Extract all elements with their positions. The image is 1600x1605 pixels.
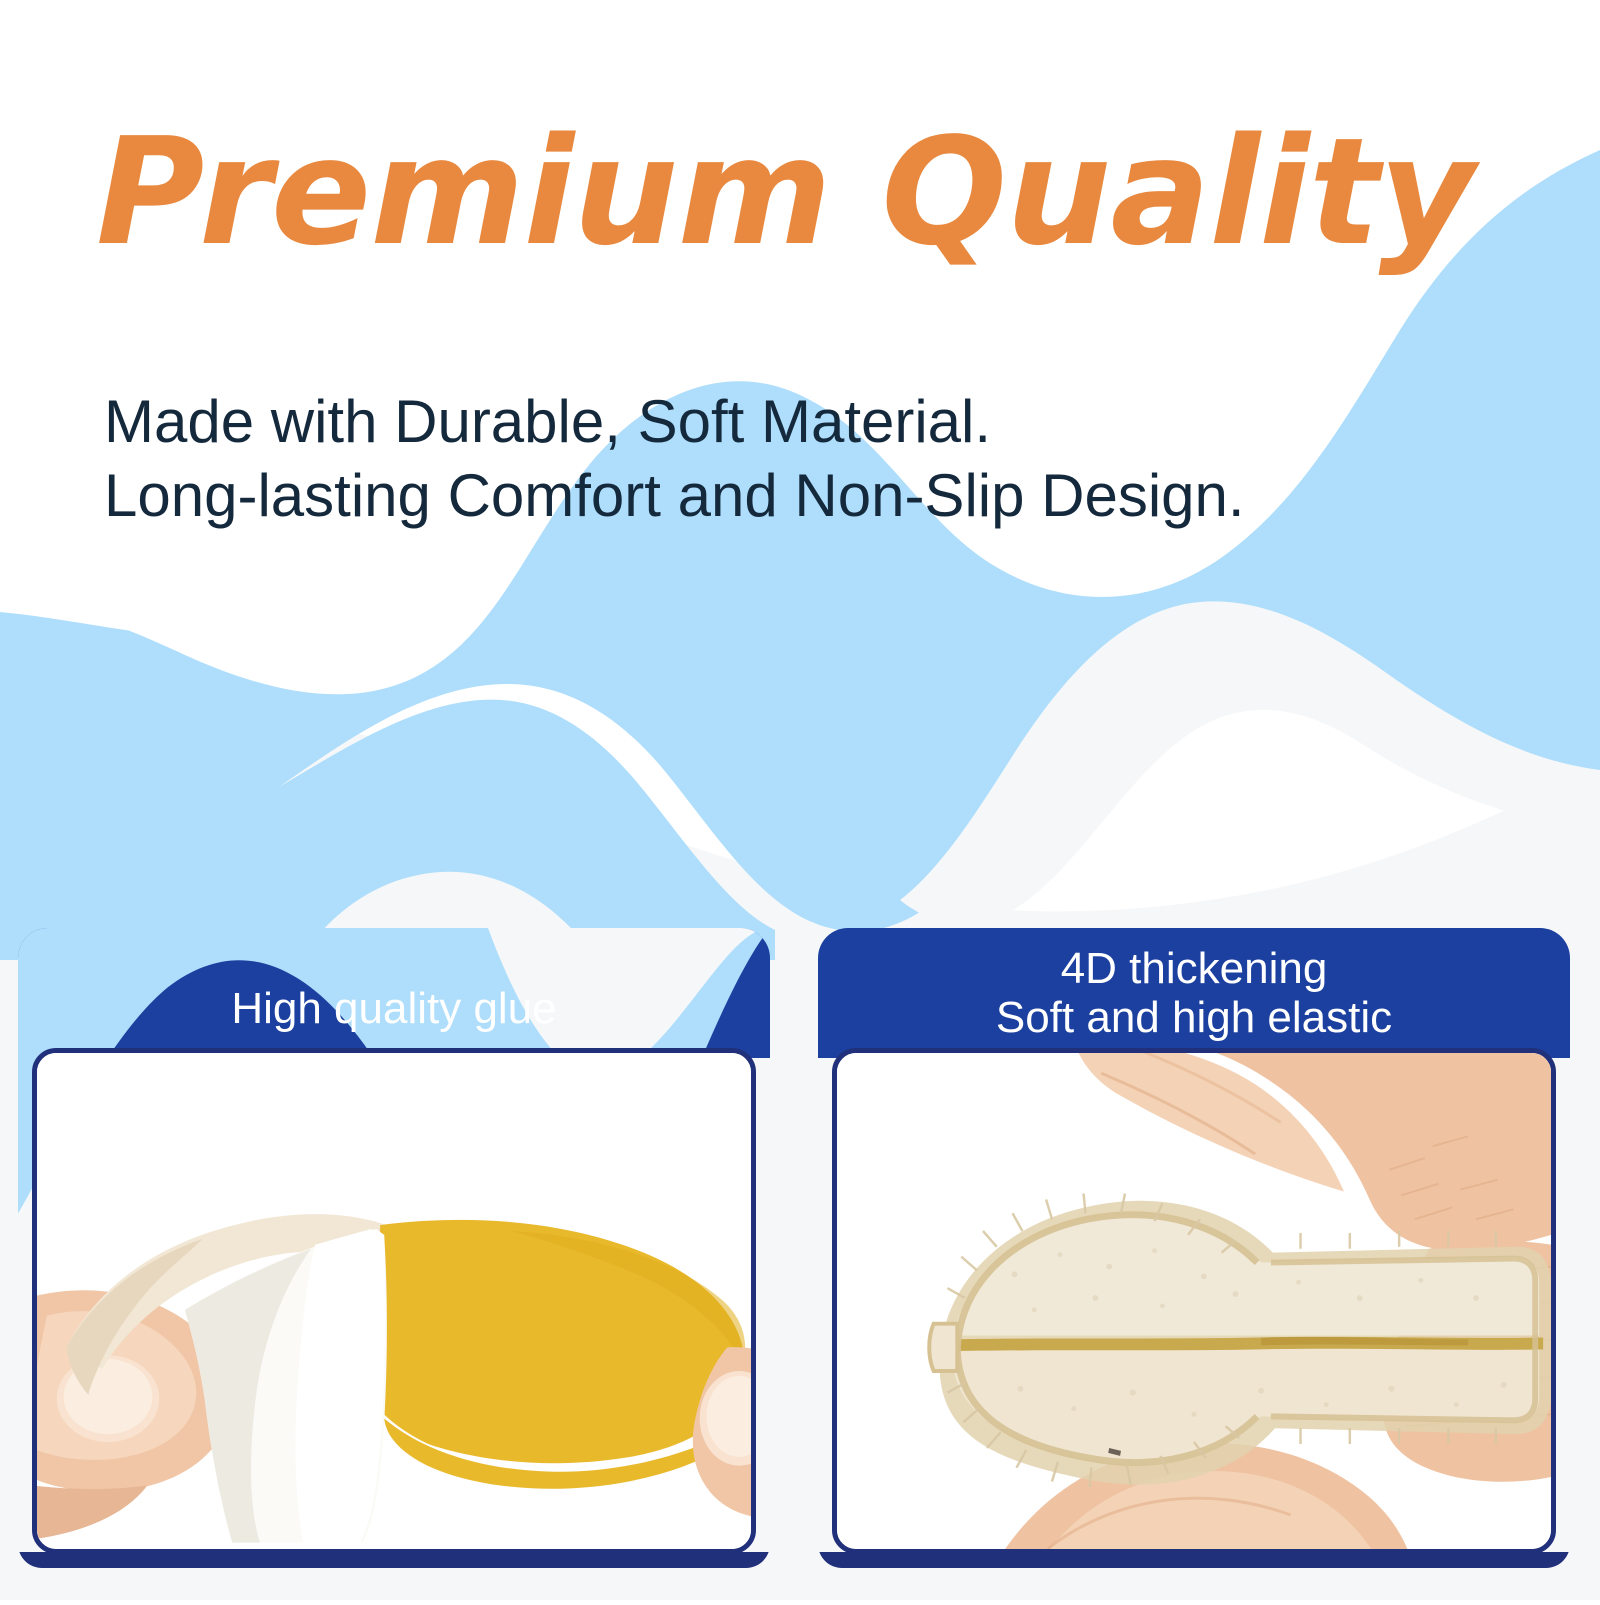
product-photo-foam bbox=[832, 1048, 1556, 1554]
feature-cards-row: High quality glue bbox=[0, 928, 1600, 1588]
headline-block: Premium Quality bbox=[96, 118, 1516, 266]
card-header-line-2: Soft and high elastic bbox=[818, 993, 1570, 1042]
card-bottom-rail-right bbox=[818, 1552, 1570, 1568]
subtitle-line-1: Made with Durable, Soft Material. bbox=[104, 385, 1454, 459]
subtitle-block: Made with Durable, Soft Material. Long-l… bbox=[104, 385, 1454, 534]
card-header-text-left: High quality glue bbox=[18, 986, 770, 1033]
card-bottom-rail-left bbox=[18, 1552, 770, 1568]
card-header-line-1: 4D thickening bbox=[818, 944, 1570, 993]
card-header-line-1: High quality glue bbox=[18, 986, 770, 1033]
page-title: Premium Quality bbox=[96, 118, 1516, 266]
subtitle-line-2: Long-lasting Comfort and Non-Slip Design… bbox=[104, 459, 1454, 533]
feature-card-4d-thickening: 4D thickening Soft and high elastic bbox=[818, 928, 1570, 1568]
foam-left-tab bbox=[929, 1324, 957, 1371]
product-photo-foam-illustration bbox=[837, 1053, 1551, 1549]
product-photo-glue-illustration bbox=[37, 1053, 751, 1549]
feature-card-high-quality-glue: High quality glue bbox=[18, 928, 770, 1568]
product-photo-glue bbox=[32, 1048, 756, 1554]
card-header-text-right: 4D thickening Soft and high elastic bbox=[818, 944, 1570, 1043]
